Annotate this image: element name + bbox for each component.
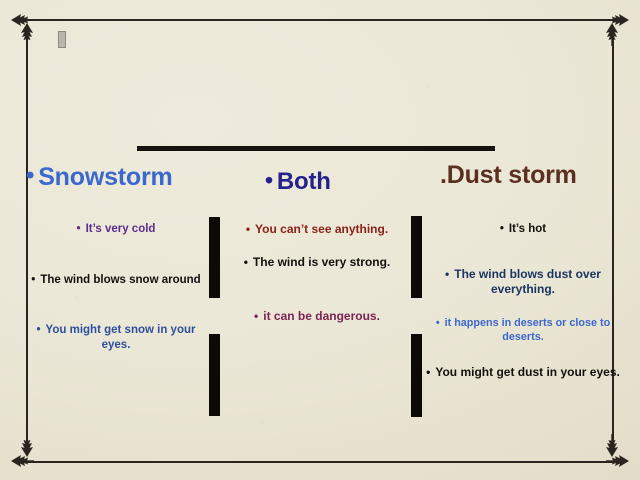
bullet-icon: •	[265, 167, 273, 194]
column-divider-left-lower	[209, 334, 220, 416]
list-item-label: The wind blows snow around	[40, 274, 200, 286]
column-divider-left-upper	[209, 217, 220, 298]
column-heading-both: •Both	[265, 168, 331, 196]
list-item-label: You might get snow in your eyes.	[46, 324, 196, 351]
column-both: •You can’t see anything. •The wind is ve…	[228, 222, 406, 324]
column-heading-snowstorm: •Snowstorm	[26, 163, 173, 192]
bullet-icon: •	[254, 309, 258, 323]
period-icon: .	[440, 161, 447, 189]
list-item: •The wind is very strong.	[228, 255, 406, 270]
list-item-label: it happens in deserts or close to desert…	[445, 317, 611, 343]
list-item: •You might get dust in your eyes.	[424, 365, 622, 380]
list-item-label: The wind blows dust over everything.	[454, 267, 601, 296]
column-heading-snowstorm-label: Snowstorm	[38, 163, 172, 191]
list-item: •The wind blows snow around	[28, 273, 204, 288]
list-item-label: It’s hot	[509, 223, 546, 235]
list-item: •It’s hot	[424, 222, 622, 237]
list-item-label: it can be dangerous.	[263, 309, 380, 323]
bullet-icon: •	[37, 324, 41, 336]
list-item: •it can be dangerous.	[228, 309, 406, 324]
bullet-icon: •	[445, 267, 449, 281]
column-heading-dust-storm: .Dust storm	[440, 161, 577, 190]
list-item: •You might get snow in your eyes.	[28, 323, 204, 352]
bullet-icon: •	[31, 274, 35, 286]
frame-line-top	[26, 19, 614, 21]
bullet-icon: •	[500, 223, 504, 235]
bullet-icon: •	[246, 222, 250, 236]
column-divider-right-upper	[411, 216, 422, 298]
arrow-fletching-ornament-bottom-right-vertical	[599, 434, 625, 460]
column-snowstorm: •It’s very cold •The wind blows snow aro…	[28, 222, 204, 353]
bullet-icon: •	[244, 255, 248, 269]
list-item-label: It’s very cold	[86, 223, 156, 235]
column-heading-both-label: Both	[277, 168, 331, 195]
arrow-fletching-ornament-top-right-vertical	[599, 20, 625, 46]
arrow-fletching-ornament-top-left-vertical	[14, 20, 40, 46]
column-dust-storm: •It’s hot •The wind blows dust over ever…	[424, 222, 622, 380]
list-item-label: You might get dust in your eyes.	[435, 365, 619, 379]
list-item: •It’s very cold	[28, 222, 204, 237]
list-item-label: The wind is very strong.	[253, 255, 390, 269]
top-horizontal-rule	[137, 146, 495, 151]
list-item: •it happens in deserts or close to deser…	[424, 317, 622, 345]
bullet-icon: •	[426, 365, 430, 379]
slide-canvas: •Snowstorm •Both .Dust storm •It’s very …	[0, 0, 640, 480]
bullet-icon: •	[436, 317, 440, 329]
column-divider-right-lower	[411, 334, 422, 417]
list-item-label: You can’t see anything.	[255, 222, 388, 236]
frame-line-bottom	[26, 461, 614, 463]
empty-text-placeholder[interactable]	[58, 31, 66, 48]
bullet-icon: •	[26, 162, 34, 190]
list-item: •You can’t see anything.	[228, 222, 406, 237]
column-heading-dust-storm-label: Dust storm	[447, 161, 577, 189]
bullet-icon: •	[77, 223, 81, 235]
list-item: •The wind blows dust over everything.	[424, 267, 622, 298]
arrow-fletching-ornament-bottom-left-vertical	[14, 434, 40, 460]
